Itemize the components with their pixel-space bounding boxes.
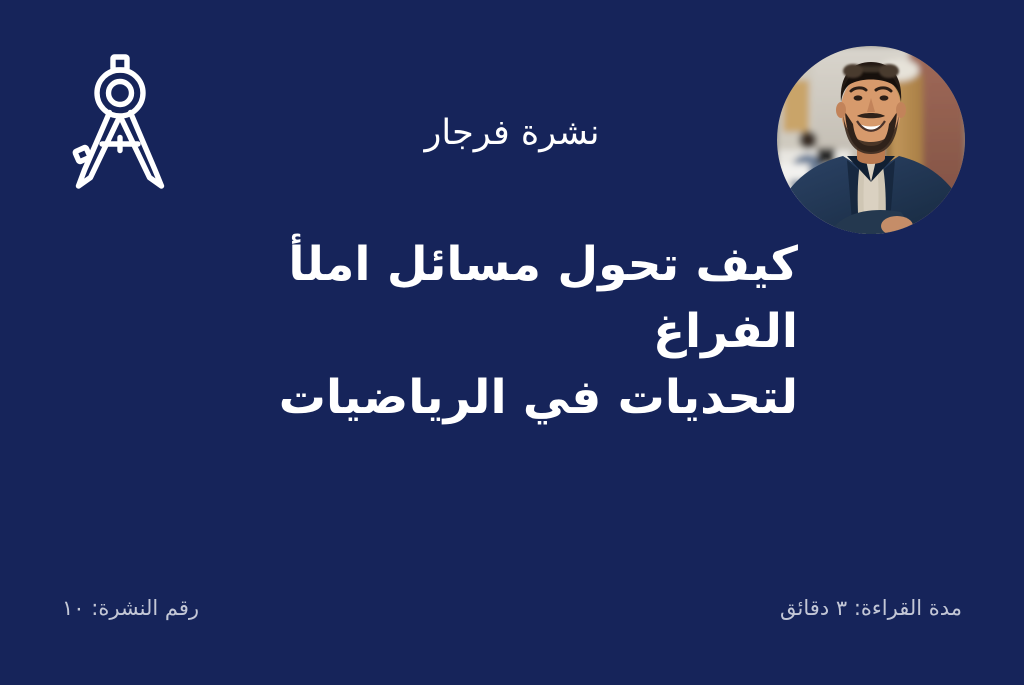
headline-line-1: كيف تحول مسائل املأ الفراغ [224,232,798,365]
page-title: كيف تحول مسائل املأ الفراغ لتحديات في ال… [224,232,798,432]
reading-time: مدة القراءة: ٣ دقائق [780,596,962,621]
headline-line-2: لتحديات في الرياضيات [224,365,798,432]
avatar [777,46,965,234]
issue-number: رقم النشرة: ١٠ [62,596,199,621]
newsletter-cover-card: نشرة فرجار كيف تحول مسائل املأ الفراغ لت… [0,0,1024,685]
